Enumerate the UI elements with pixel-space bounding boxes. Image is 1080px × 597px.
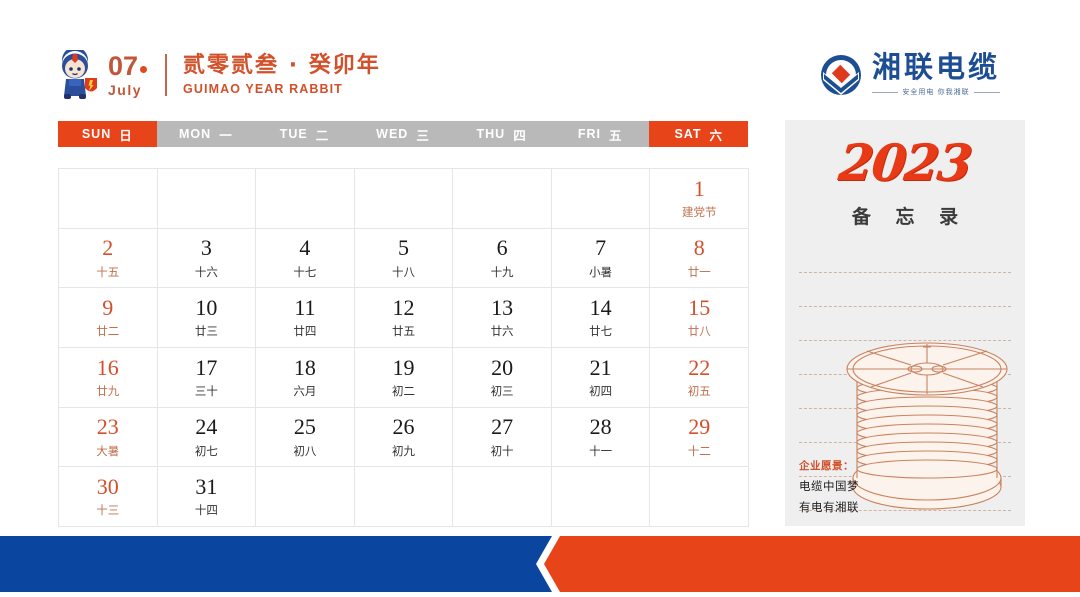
day-number: 14 [590, 296, 612, 319]
weekday-en: SAT [674, 127, 701, 141]
xianglian-diamond-logo-icon [818, 52, 864, 98]
lunar-label: 廿七 [589, 323, 612, 339]
corporate-vision-group: 企业愿景： 电缆中国梦 有电有湘联 [799, 458, 919, 515]
page-header: 07 July 贰零贰叁 · 癸卯年 GUIMAO YEAR RABBIT 湘联… [0, 0, 1080, 118]
calendar-grid: 1建党节2十五3十六4十七5十八6十九7小暑8廿一9廿二10廿三11廿四12廿五… [58, 168, 749, 527]
english-year-subtitle: GUIMAO YEAR RABBIT [183, 83, 381, 96]
day-number: 25 [294, 415, 316, 438]
tagline-rule-right [974, 92, 1000, 93]
calendar-day-23[interactable]: 23大暑 [59, 408, 158, 468]
vision-title: 企业愿景： [799, 458, 919, 473]
day-number: 17 [195, 356, 217, 379]
calendar-day-empty [355, 169, 454, 229]
lunar-label: 十二 [688, 443, 711, 459]
header-divider [165, 54, 167, 96]
memo-line[interactable] [799, 306, 1011, 308]
day-number: 4 [299, 236, 310, 259]
day-number: 10 [195, 296, 217, 319]
calendar-day-empty [552, 467, 651, 527]
weekday-cn: 六 [710, 125, 724, 144]
weekday-cn: 一 [219, 125, 233, 144]
day-number: 19 [392, 356, 414, 379]
day-number: 27 [491, 415, 513, 438]
day-number: 2 [102, 236, 113, 259]
day-number: 7 [595, 236, 606, 259]
weekday-header-sun: SUN日 [58, 121, 157, 147]
lunar-label: 廿六 [491, 323, 514, 339]
calendar-day-28[interactable]: 28十一 [552, 408, 651, 468]
day-number: 13 [491, 296, 513, 319]
lunar-label: 初九 [392, 443, 415, 459]
weekday-header-mon: MON一 [157, 121, 256, 147]
day-number: 22 [688, 356, 710, 379]
lunar-label: 初三 [491, 383, 514, 399]
lunar-label: 十四 [195, 502, 218, 518]
lunar-label: 初十 [491, 443, 514, 459]
lunar-label: 廿五 [392, 323, 415, 339]
weekday-header-thu: THU四 [452, 121, 551, 147]
company-tagline: 安全用电 你我湘联 [902, 87, 969, 97]
calendar-day-30[interactable]: 30十三 [59, 467, 158, 527]
calendar-day-empty [355, 467, 454, 527]
calendar-day-13[interactable]: 13廿六 [453, 288, 552, 348]
lunar-label: 小暑 [589, 264, 612, 280]
month-brand-group: 07 July 贰零贰叁 · 癸卯年 GUIMAO YEAR RABBIT [55, 50, 381, 100]
lunar-label: 廿二 [96, 323, 119, 339]
day-number: 29 [688, 415, 710, 438]
chinese-year-title: 贰零贰叁 · 癸卯年 [183, 55, 381, 77]
lunar-label: 廿九 [96, 383, 119, 399]
calendar-day-empty [158, 169, 257, 229]
lunar-label: 建党节 [682, 204, 717, 220]
calendar-day-14[interactable]: 14廿七 [552, 288, 651, 348]
lunar-label: 廿八 [688, 323, 711, 339]
calendar-day-empty [256, 467, 355, 527]
weekday-header-fri: FRI五 [551, 121, 650, 147]
day-number: 28 [590, 415, 612, 438]
calendar-day-18[interactable]: 18六月 [256, 348, 355, 408]
weekday-header-tue: TUE二 [255, 121, 354, 147]
day-number: 20 [491, 356, 513, 379]
weekday-header-row: SUN日MON一TUE二WED三THU四FRI五SAT六 [58, 121, 748, 147]
lunar-label: 十六 [195, 264, 218, 280]
year-title-group: 贰零贰叁 · 癸卯年 GUIMAO YEAR RABBIT [183, 55, 381, 96]
day-number: 9 [102, 296, 113, 319]
weekday-cn: 五 [609, 125, 623, 144]
calendar-day-empty [552, 169, 651, 229]
lunar-label: 初四 [589, 383, 612, 399]
company-logo-group: 湘联电缆 安全用电 你我湘联 [818, 52, 1000, 98]
lunar-label: 廿一 [688, 264, 711, 280]
lunar-label: 廿三 [195, 323, 218, 339]
calendar-day-7[interactable]: 7小暑 [552, 229, 651, 289]
calendar-day-3[interactable]: 3十六 [158, 229, 257, 289]
memo-title: 备 忘 录 [785, 202, 1025, 229]
calendar-day-29[interactable]: 29十二 [650, 408, 749, 468]
calendar-day-26[interactable]: 26初九 [355, 408, 454, 468]
calendar-day-10[interactable]: 10廿三 [158, 288, 257, 348]
calendar-day-1[interactable]: 1建党节 [650, 169, 749, 229]
memo-header: 2023 备 忘 录 [785, 138, 1025, 229]
calendar-day-empty [453, 169, 552, 229]
vision-line-1: 电缆中国梦 [799, 478, 919, 494]
day-number: 16 [97, 356, 119, 379]
day-number: 31 [195, 475, 217, 498]
day-number: 30 [97, 475, 119, 498]
calendar-day-8[interactable]: 8廿一 [650, 229, 749, 289]
weekday-en: TUE [280, 127, 308, 141]
lunar-label: 初二 [392, 383, 415, 399]
company-tagline-row: 安全用电 你我湘联 [872, 87, 1000, 97]
weekday-en: SUN [82, 127, 111, 141]
bottom-banner [0, 536, 1080, 592]
day-number: 5 [398, 236, 409, 259]
calendar-day-16[interactable]: 16廿九 [59, 348, 158, 408]
calendar-day-5[interactable]: 5十八 [355, 229, 454, 289]
calendar-day-6[interactable]: 6十九 [453, 229, 552, 289]
calendar-day-22[interactable]: 22初五 [650, 348, 749, 408]
calendar-day-empty [59, 169, 158, 229]
calendar-day-2[interactable]: 2十五 [59, 229, 158, 289]
day-number: 3 [201, 236, 212, 259]
month-name: July [108, 83, 142, 97]
weekday-header-wed: WED三 [354, 121, 453, 147]
tagline-rule-left [872, 92, 898, 93]
calendar-day-empty [256, 169, 355, 229]
day-number: 11 [294, 296, 315, 319]
lunar-label: 十一 [589, 443, 612, 459]
calendar-day-4[interactable]: 4十七 [256, 229, 355, 289]
vision-line-2: 有电有湘联 [799, 499, 919, 515]
weekday-cn: 日 [119, 125, 133, 144]
calendar-day-27[interactable]: 27初十 [453, 408, 552, 468]
lunar-label: 初八 [293, 443, 316, 459]
weekday-en: FRI [578, 127, 601, 141]
calendar-day-20[interactable]: 20初三 [453, 348, 552, 408]
lunar-label: 六月 [293, 383, 316, 399]
day-number: 1 [694, 177, 705, 200]
company-name-group: 湘联电缆 安全用电 你我湘联 [872, 53, 1000, 97]
day-number: 18 [294, 356, 316, 379]
calendar-day-24[interactable]: 24初七 [158, 408, 257, 468]
day-number: 21 [590, 356, 612, 379]
month-label-group: 07 July [108, 53, 147, 97]
day-number: 8 [694, 236, 705, 259]
calendar-day-12[interactable]: 12廿五 [355, 288, 454, 348]
lunar-label: 初五 [688, 383, 711, 399]
lunar-label: 十七 [293, 264, 316, 280]
weekday-header-sat: SAT六 [649, 121, 748, 147]
lunar-label: 三十 [195, 383, 218, 399]
lunar-label: 初七 [195, 443, 218, 459]
day-number: 12 [392, 296, 414, 319]
safety-mascot-icon [55, 50, 101, 100]
calendar-day-empty [650, 467, 749, 527]
day-number: 26 [392, 415, 414, 438]
calendar-day-25[interactable]: 25初八 [256, 408, 355, 468]
year-2023-logo: 2023 [837, 138, 973, 188]
calendar-day-9[interactable]: 9廿二 [59, 288, 158, 348]
lunar-label: 大暑 [96, 443, 119, 459]
weekday-en: WED [376, 127, 408, 141]
weekday-en: THU [476, 127, 505, 141]
weekday-en: MON [179, 127, 211, 141]
day-number: 24 [195, 415, 217, 438]
memo-line[interactable] [799, 272, 1011, 274]
day-number: 23 [97, 415, 119, 438]
lunar-label: 十五 [96, 264, 119, 280]
calendar-day-empty [453, 467, 552, 527]
weekday-cn: 四 [513, 125, 527, 144]
memo-panel: 2023 备 忘 录 [785, 120, 1025, 526]
month-dot-icon [140, 66, 147, 73]
weekday-cn: 三 [416, 125, 430, 144]
calendar-day-15[interactable]: 15廿八 [650, 288, 749, 348]
lunar-label: 十九 [491, 264, 514, 280]
calendar-day-21[interactable]: 21初四 [552, 348, 651, 408]
day-number: 6 [497, 236, 508, 259]
weekday-cn: 二 [316, 125, 330, 144]
lunar-label: 廿四 [293, 323, 316, 339]
company-name-cn: 湘联电缆 [872, 53, 1000, 82]
calendar-day-11[interactable]: 11廿四 [256, 288, 355, 348]
month-number: 07 [108, 53, 147, 80]
lunar-label: 十八 [392, 264, 415, 280]
day-number: 15 [688, 296, 710, 319]
calendar-day-31[interactable]: 31十四 [158, 467, 257, 527]
lunar-label: 十三 [96, 502, 119, 518]
calendar-day-17[interactable]: 17三十 [158, 348, 257, 408]
calendar-day-19[interactable]: 19初二 [355, 348, 454, 408]
